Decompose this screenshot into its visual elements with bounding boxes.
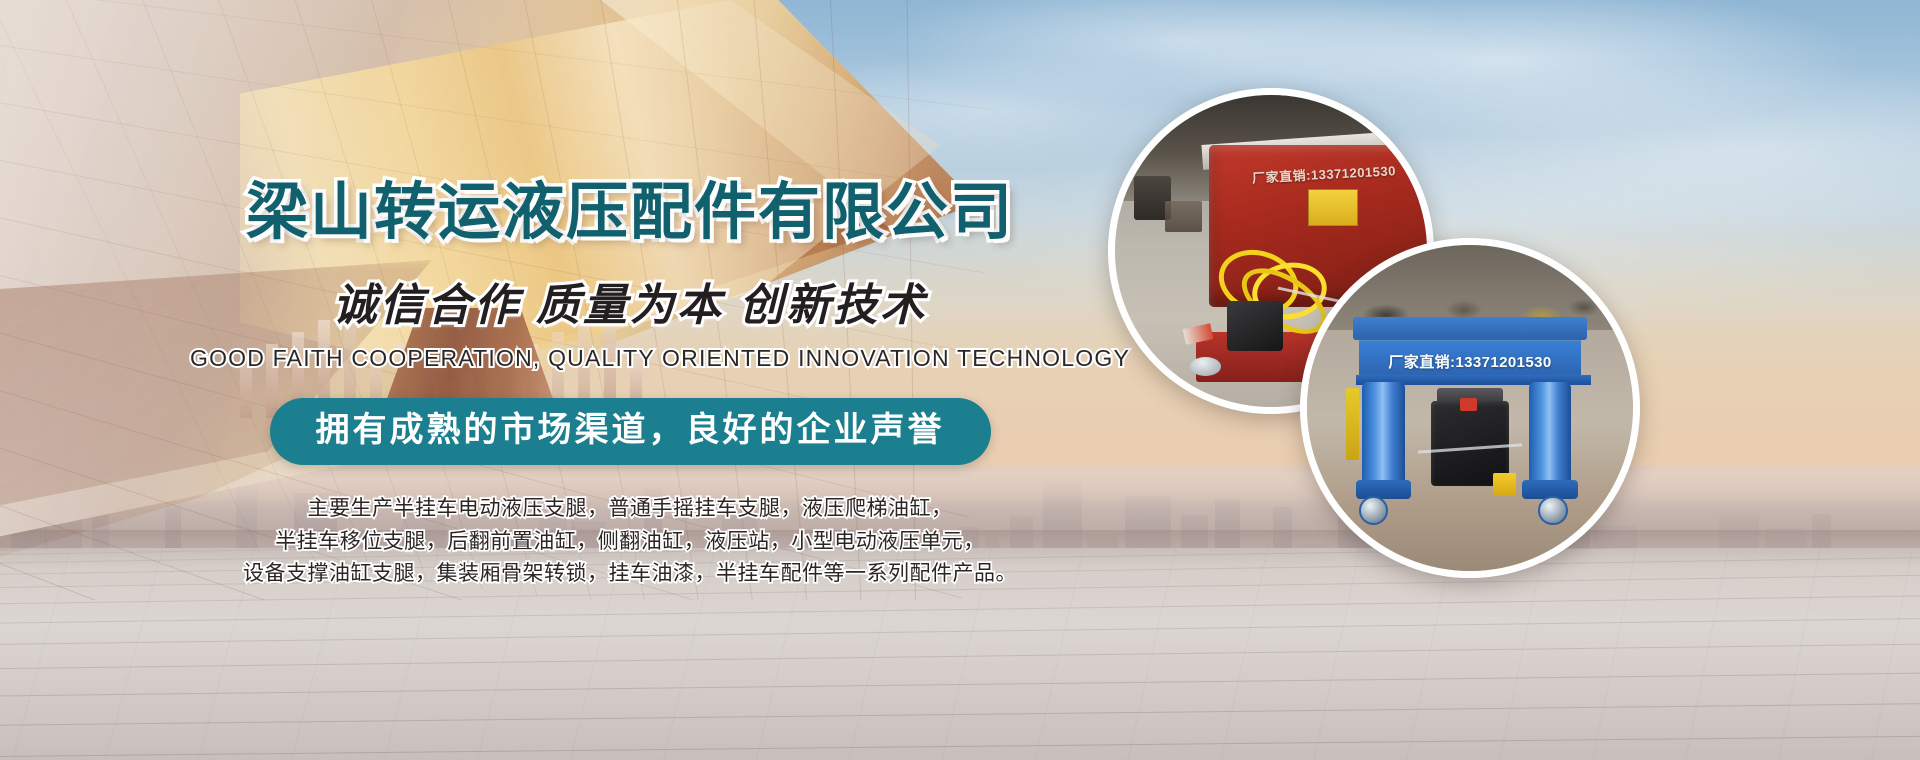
- ground-stone: [1190, 357, 1221, 376]
- electric-motor-unit: [1227, 301, 1283, 351]
- product-description: 主要生产半挂车电动液压支腿，普通手摇挂车支腿，液压爬梯油缸， 半挂车移位支腿，后…: [190, 493, 1070, 591]
- description-line-3: 设备支撑油缸支腿，集装厢骨架转锁，挂车油漆，半挂车配件等一系列配件产品。: [190, 558, 1070, 591]
- highlight-pill-text: 拥有成熟的市场渠道，良好的企业声誉: [316, 411, 945, 450]
- banner-copy: 梁山转运液压配件有限公司 诚信合作 质量为本 创新技术 GOOD FAITH C…: [190, 180, 1070, 591]
- blue-frame-top-rail: [1353, 317, 1588, 340]
- caster-wheel-right: [1538, 496, 1567, 525]
- highlight-pill: 拥有成熟的市场渠道，良好的企业声誉: [270, 398, 991, 465]
- yellow-side-bar: [1346, 388, 1359, 460]
- yellow-tag: [1493, 473, 1516, 496]
- description-line-1: 主要生产半挂车电动液压支腿，普通手摇挂车支腿，液压爬梯油缸，: [190, 493, 1070, 526]
- description-line-2: 半挂车移位支腿，后翻前置油缸，侧翻油缸，液压站，小型电动液压单元，: [190, 526, 1070, 559]
- company-name: 梁山转运液压配件有限公司: [190, 180, 1070, 247]
- product-photo-blue-unit: 厂家直销:13371201530: [1300, 238, 1640, 578]
- warning-plate: [1308, 189, 1358, 226]
- hydraulic-cylinder-right: [1529, 382, 1571, 483]
- photo-blue-unit-content: 厂家直销:13371201530: [1307, 245, 1633, 571]
- support-foot-left: [1356, 480, 1411, 500]
- slogan-chinese: 诚信合作 质量为本 创新技术: [190, 269, 1070, 333]
- hero-banner: 梁山转运液压配件有限公司 诚信合作 质量为本 创新技术 GOOD FAITH C…: [0, 0, 1920, 760]
- hydraulic-cylinder-left: [1362, 382, 1404, 483]
- yard-crate: [1165, 201, 1202, 232]
- red-indicator: [1460, 398, 1476, 411]
- blue-unit-sign-text: 厂家直销:13371201530: [1388, 351, 1551, 372]
- slogan-english: GOOD FAITH COOPERATION, QUALITY ORIENTED…: [190, 345, 1070, 372]
